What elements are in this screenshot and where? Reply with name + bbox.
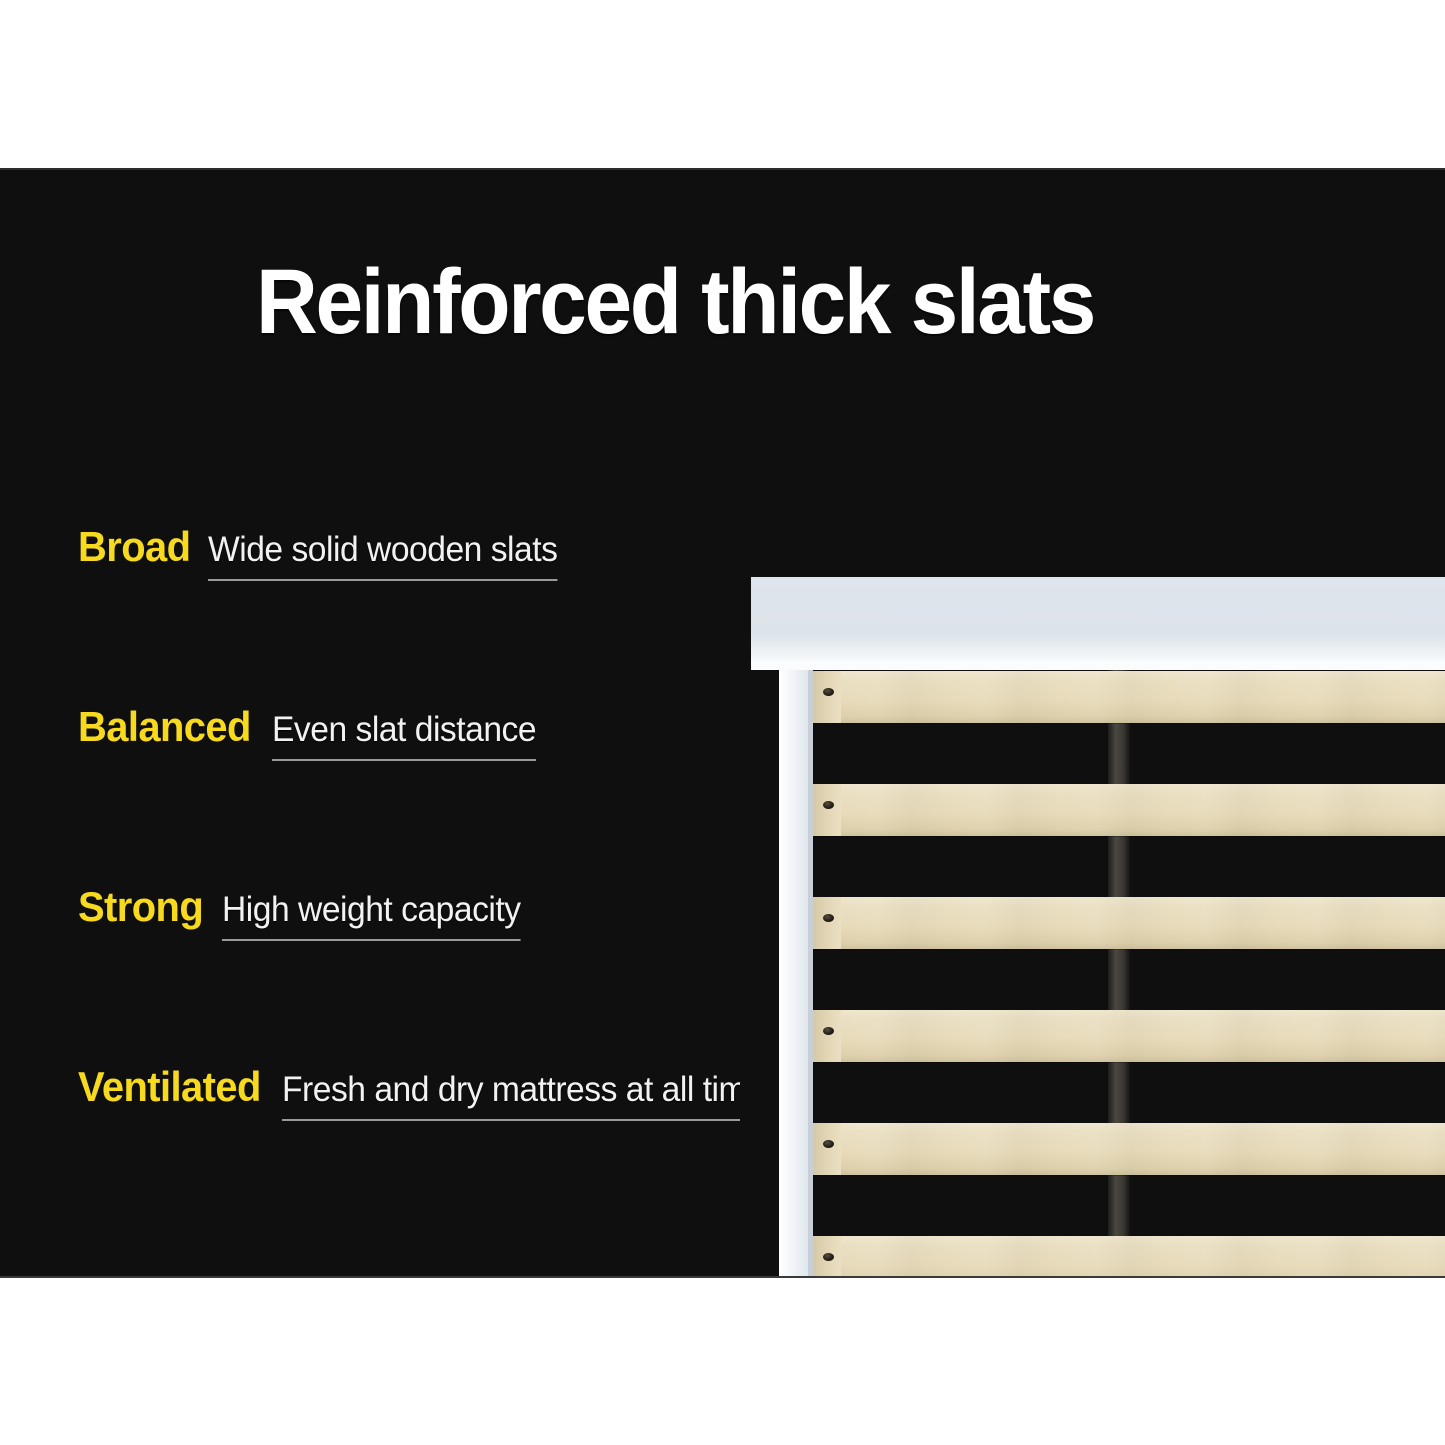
slat-wood-grain xyxy=(841,1123,1445,1175)
feature-row-strong: Strong High weight capacity xyxy=(78,883,778,1063)
slat-wood-grain xyxy=(841,671,1445,723)
feature-list: Broad Wide solid wooden slats Balanced E… xyxy=(78,523,778,1243)
feature-row-ventilated: Ventilated Fresh and dry mattress at all… xyxy=(78,1063,778,1243)
feature-description: Even slat distance xyxy=(272,710,536,761)
feature-key-label: Balanced xyxy=(78,703,251,751)
wooden-slat xyxy=(813,671,1445,723)
slat-wood-grain xyxy=(841,1010,1445,1062)
side-rail-edge xyxy=(808,666,813,1278)
feature-key-label: Strong xyxy=(78,883,203,931)
top-white-margin xyxy=(0,0,1445,168)
bed-base-slats-photo xyxy=(740,336,1445,1278)
feature-key-label: Broad xyxy=(78,523,190,571)
feature-key-label: Ventilated xyxy=(78,1063,261,1111)
feature-description: High weight capacity xyxy=(222,890,521,941)
wooden-slat xyxy=(813,1123,1445,1175)
wooden-slats-group xyxy=(740,336,1445,1278)
headboard-rail xyxy=(751,577,1445,669)
black-feature-panel: Reinforced thick slats Broad Wide solid … xyxy=(0,168,1445,1278)
wooden-slat xyxy=(813,897,1445,949)
feature-description: Fresh and dry mattress at all times xyxy=(282,1070,781,1121)
panel-top-edge xyxy=(0,168,1445,170)
product-feature-graphic: Reinforced thick slats Broad Wide solid … xyxy=(0,0,1445,1445)
feature-row-broad: Broad Wide solid wooden slats xyxy=(78,523,778,703)
wooden-slat xyxy=(813,1236,1445,1278)
feature-description: Wide solid wooden slats xyxy=(208,530,557,581)
page-title: Reinforced thick slats xyxy=(256,256,1186,348)
slat-wood-grain xyxy=(841,1236,1445,1278)
wooden-slat xyxy=(813,1010,1445,1062)
slat-wood-grain xyxy=(841,897,1445,949)
slat-wood-grain xyxy=(841,784,1445,836)
bottom-white-margin xyxy=(0,1278,1445,1445)
side-rail xyxy=(779,666,810,1278)
wooden-slat xyxy=(813,784,1445,836)
headboard-rail-highlight xyxy=(751,661,1445,670)
feature-row-balanced: Balanced Even slat distance xyxy=(78,703,778,883)
